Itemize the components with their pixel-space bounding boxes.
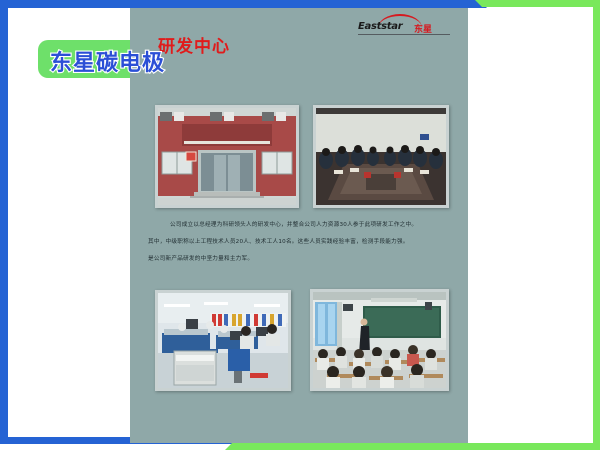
- logo-text: 东星碳电极: [50, 45, 165, 77]
- body-paragraph-2: 其中，中级职称以上工程技术人员20人、技术工人10名。这些人员实践经验丰富，检测…: [148, 236, 454, 248]
- photo-training-classroom: [310, 289, 449, 391]
- border-green-bottom: [232, 443, 600, 450]
- body-text: 公司成立以总经理为科研领头人的研发中心，并整合公司人力资源30人参于此项研发工作…: [148, 219, 454, 270]
- company-logo: 东星碳电极: [38, 40, 160, 78]
- photo-conference-meeting: [313, 105, 449, 208]
- presentation-slide: 东星碳电极 Eaststar 东星 研发中心: [0, 0, 600, 450]
- border-blue-left: [0, 0, 8, 444]
- border-green-top: [482, 0, 600, 7]
- photo-laboratory-office: [155, 290, 291, 391]
- page-title: 研发中心: [158, 32, 230, 57]
- body-paragraph-3: 是公司新产品研发的中坚力量和主力军。: [148, 253, 454, 265]
- content-panel: Eaststar 东星 研发中心: [130, 8, 468, 443]
- body-paragraph-1: 公司成立以总经理为科研领头人的研发中心，并整合公司人力资源30人参于此项研发工作…: [148, 219, 454, 231]
- border-blue-top: [0, 0, 486, 8]
- eaststar-brandmark: Eaststar 东星: [358, 14, 450, 36]
- photo-rd-center-building: [155, 105, 299, 208]
- border-green-right: [593, 0, 600, 450]
- brandmark-rule: [358, 34, 450, 35]
- brandmark-word: Eaststar: [358, 21, 402, 32]
